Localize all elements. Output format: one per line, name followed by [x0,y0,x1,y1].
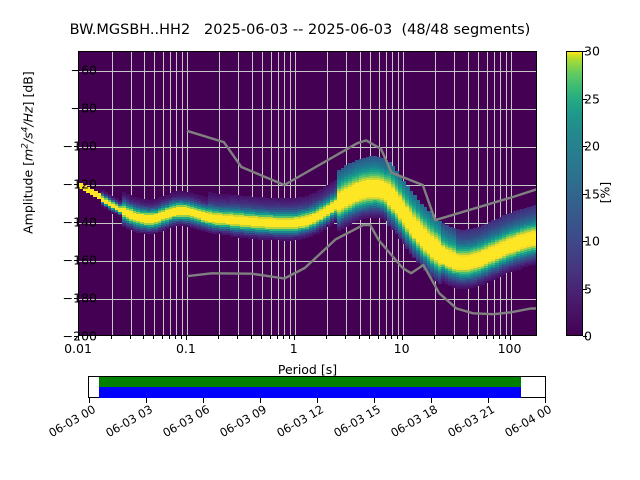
ppsd-figure: BW.MGSBH..HH2 2025-06-03 -- 2025-06-03 (… [0,0,640,480]
x-tick-mark-minor [345,336,346,339]
x-tick-mark-minor [130,336,131,339]
colorbar-label: [%] [598,148,613,238]
colorbar-tick-mark [583,146,587,147]
x-tick-mark-minor [326,336,327,339]
y-tick-mark [74,222,78,223]
x-tick-mark-minor [283,336,284,339]
x-tick-mark-minor [143,336,144,339]
x-tick-label: 100 [498,341,522,356]
x-tick-mark-minor [181,336,182,339]
x-tick-mark-minor [289,336,290,339]
x-tick-mark-minor [477,336,478,339]
y-tick-mark [74,298,78,299]
noise-model-nlnm [187,225,537,314]
x-tick-mark-minor [218,336,219,339]
colorbar-tick-mark [583,194,587,195]
ppsd-plot-area [78,51,537,336]
x-tick-mark-major [186,336,187,340]
x-tick-mark-minor [270,336,271,339]
colorbar-tick-mark [583,241,587,242]
noise-model-nhnm [187,131,537,220]
colorbar [566,51,583,336]
coverage-tick-label: 06-03 15 [324,402,383,444]
x-tick-mark-minor [359,336,360,339]
x-tick-mark-minor [486,336,487,339]
x-tick-mark-minor [153,336,154,339]
x-tick-mark-minor [277,336,278,339]
x-tick-mark-minor [453,336,454,339]
coverage-tick-label: 06-03 18 [381,402,440,444]
x-tick-mark-minor [397,336,398,339]
colorbar-tick-mark [583,51,587,52]
x-tick-mark-minor [237,336,238,339]
colorbar-tick-mark [583,289,587,290]
y-tick-label: −80 [27,101,97,116]
x-tick-mark-minor [391,336,392,339]
x-tick-mark-major [294,336,295,340]
y-tick-mark [74,184,78,185]
coverage-segment-blue [99,387,521,398]
x-tick-mark-minor [467,336,468,339]
y-tick-label: −120 [27,177,97,192]
x-tick-mark-major [78,336,79,340]
x-tick-mark-minor [505,336,506,339]
y-tick-label: −60 [27,63,97,78]
x-tick-mark-minor [385,336,386,339]
y-tick-label: −160 [27,253,97,268]
x-tick-mark-minor [111,336,112,339]
colorbar-tick-mark [583,336,587,337]
y-axis-label: Amplitude [m2/s4/Hz] [dB] [20,3,35,303]
y-tick-mark [74,108,78,109]
x-tick-label: 10 [394,341,410,356]
x-tick-mark-minor [499,336,500,339]
x-tick-mark-minor [251,336,252,339]
y-tick-label: −180 [27,291,97,306]
coverage-tick-label: 06-03 03 [96,402,155,444]
x-tick-mark-minor [261,336,262,339]
coverage-tick-label: 06-03 00 [39,402,98,444]
y-tick-label: −100 [27,139,97,154]
coverage-tick-label: 06-03 06 [153,402,212,444]
page-title: BW.MGSBH..HH2 2025-06-03 -- 2025-06-03 (… [0,22,600,38]
data-coverage-bar [88,376,546,398]
y-tick-label: −140 [27,215,97,230]
colorbar-tick-mark [583,99,587,100]
y-tick-mark [74,146,78,147]
x-tick-mark-minor [162,336,163,339]
coverage-segment-green [99,377,521,387]
x-tick-mark-minor [175,336,176,339]
x-tick-mark-major [510,336,511,340]
x-tick-mark-minor [493,336,494,339]
x-tick-mark-major [402,336,403,340]
x-tick-label: 1 [290,341,298,356]
coverage-tick-label: 06-04 00 [495,402,554,444]
x-axis-label: Period [s] [78,362,537,377]
x-tick-mark-minor [369,336,370,339]
x-tick-label: 0.1 [176,341,196,356]
y-tick-mark [74,70,78,71]
x-tick-label: 0.01 [64,341,92,356]
coverage-tick-label: 06-03 09 [210,402,269,444]
x-tick-mark-minor [169,336,170,339]
noise-model-lines [79,52,537,336]
coverage-tick-label: 06-03 12 [267,402,326,444]
x-tick-mark-minor [378,336,379,339]
x-tick-mark-minor [434,336,435,339]
y-tick-mark [74,260,78,261]
coverage-tick-label: 06-03 21 [438,402,497,444]
